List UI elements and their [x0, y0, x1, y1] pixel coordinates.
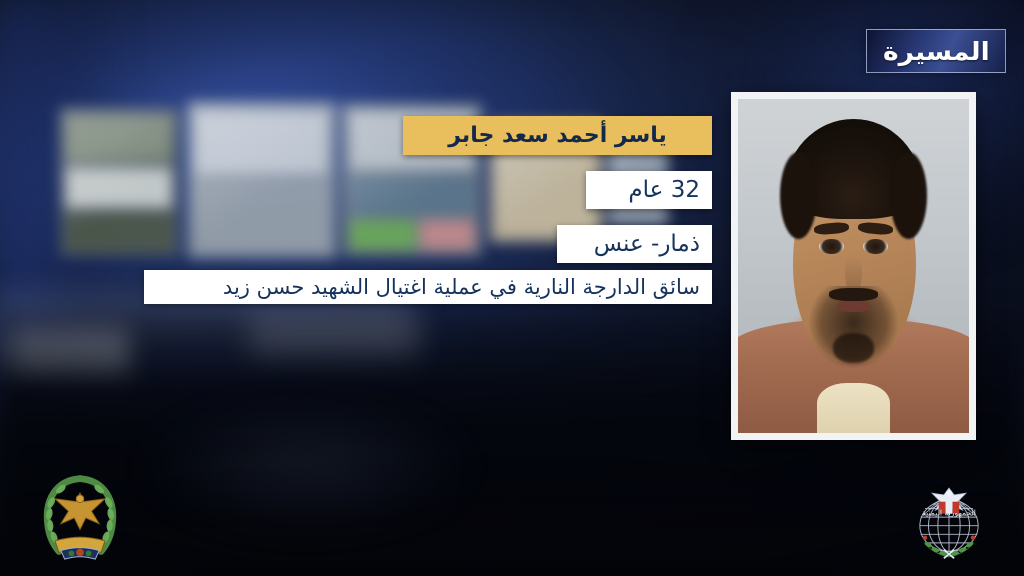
monitor-screen [60, 108, 180, 256]
portrait-undershirt [817, 383, 891, 433]
portrait-mouth [837, 301, 869, 312]
portrait-chin-beard [833, 333, 875, 363]
person-name-text: ياسر أحمد سعد جابر [448, 123, 667, 148]
person-name-banner: ياسر أحمد سعد جابر [403, 116, 712, 155]
portrait-eye-left [819, 239, 844, 254]
person-age-box: 32 عام [586, 171, 712, 209]
portrait-moustache [829, 288, 878, 301]
portrait-hair-right [890, 152, 927, 239]
channel-logo-text: المسيرة [883, 39, 990, 64]
portrait-photo [738, 99, 969, 433]
portrait-eye-right [863, 239, 888, 254]
monitor-screen [188, 102, 336, 258]
background-floor-sheen [82, 392, 533, 542]
person-age-text: 32 عام [628, 177, 700, 203]
svg-text:الجمهورية اليمنية: الجمهورية اليمنية [922, 508, 976, 517]
channel-logo: المسيرة [866, 29, 1006, 73]
person-place-text: ذمار- عنس [594, 231, 700, 257]
person-place-box: ذمار- عنس [557, 225, 712, 263]
person-description-text: سائق الدارجة النارية في عملية اغتيال الش… [223, 275, 700, 299]
broadcast-graphic: المسيرة ياسر أحمد سعد جابر 32 عام [0, 0, 1024, 576]
portrait-hair-left [780, 152, 817, 239]
person-description-box: سائق الدارجة النارية في عملية اغتيال الش… [144, 270, 712, 304]
eagle-wreath-emblem [32, 470, 128, 562]
portrait-frame [731, 92, 976, 440]
republic-of-yemen-emblem: الجمهورية اليمنية [906, 476, 992, 560]
